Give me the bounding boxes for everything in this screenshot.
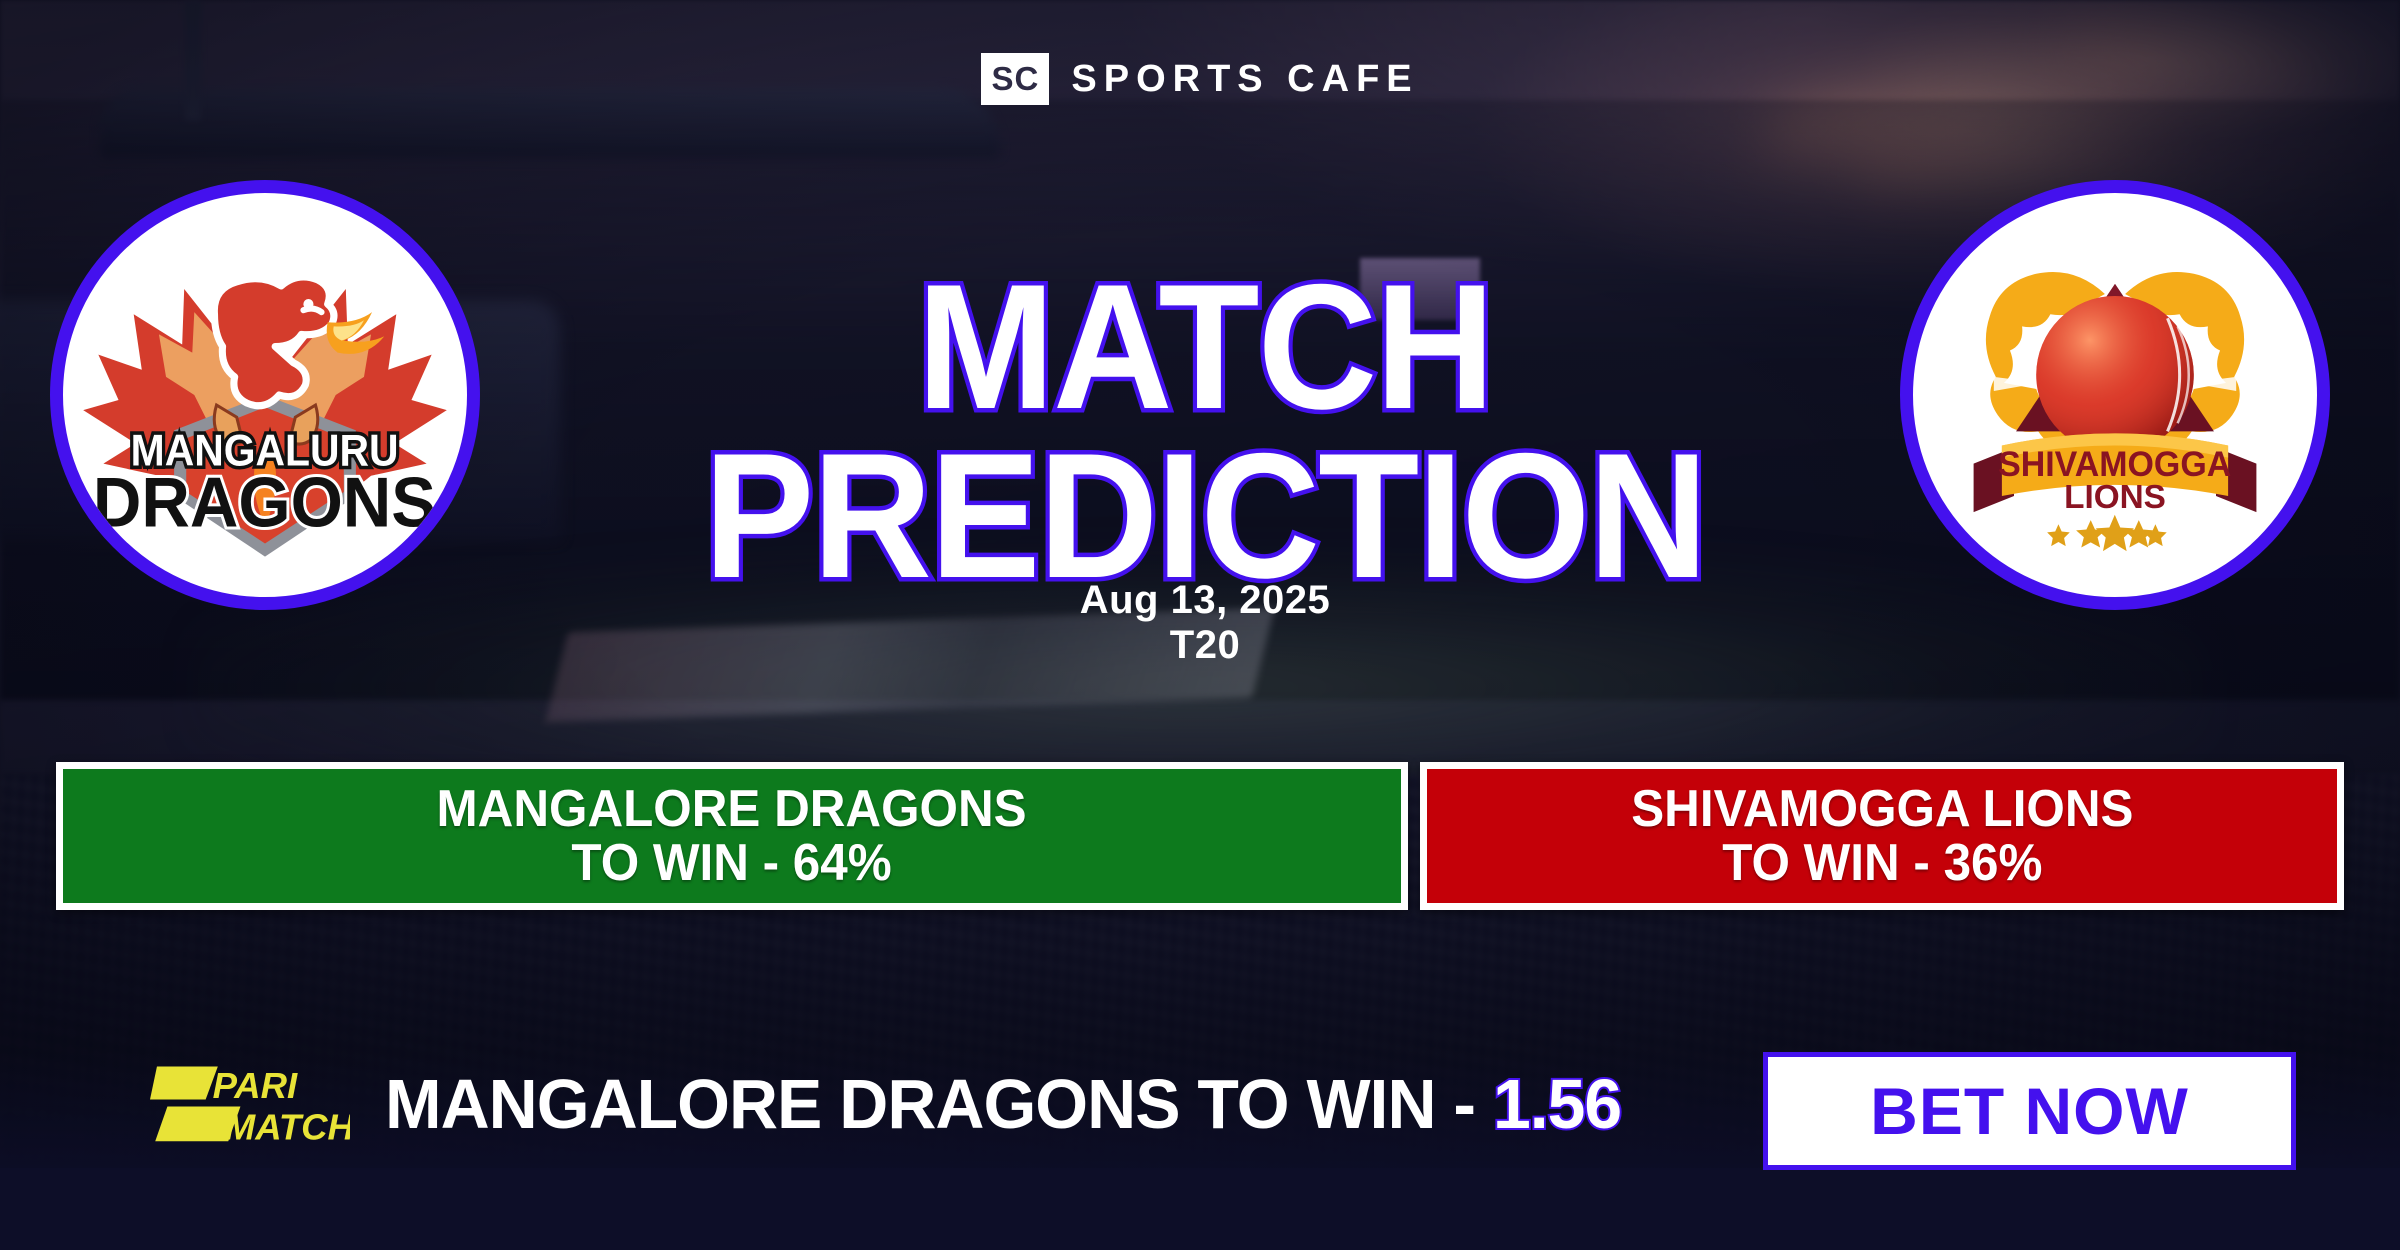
bottom-solid-band xyxy=(0,1168,2400,1250)
home-team-logo: MANGALURU DRAGONS xyxy=(50,180,480,610)
parimatch-logo-mark: PARI MATCH xyxy=(150,1057,350,1149)
sports-cafe-logo-mark: SC xyxy=(981,53,1049,105)
home-win-line1: MANGALORE DRAGONS xyxy=(437,780,1027,838)
sports-cafe-logo-text: SPORTS CAFE xyxy=(1071,58,1418,101)
parimatch-line2: MATCH xyxy=(225,1107,350,1148)
page-title: MATCH PREDICTION xyxy=(605,262,1805,600)
match-format: T20 xyxy=(560,623,1850,668)
promo-odds-value: 1.56 xyxy=(1493,1065,1621,1143)
bet-now-button[interactable]: BET NOW xyxy=(1763,1052,2296,1170)
shivamogga-lions-crest: SHIVAMOGGA LIONS xyxy=(1913,193,2317,597)
prediction-bars: MANGALORE DRAGONS TO WIN - 64% SHIVAMOGG… xyxy=(56,762,2344,910)
away-logo-line2: LIONS xyxy=(2064,479,2166,516)
home-win-bar: MANGALORE DRAGONS TO WIN - 64% xyxy=(56,762,1408,910)
promo-offer-text: MANGALORE DRAGONS TO WIN - 1.56 xyxy=(385,1069,1675,1139)
match-date: Aug 13, 2025 xyxy=(560,578,1850,623)
away-win-bar: SHIVAMOGGA LIONS TO WIN - 36% xyxy=(1420,762,2344,910)
parimatch-line1: PARI xyxy=(213,1065,298,1106)
match-prediction-graphic: SC SPORTS CAFE MANGALURU DRAG xyxy=(0,0,2400,1250)
headline-block: MATCH PREDICTION xyxy=(560,262,1850,600)
mangaluru-dragons-crest: MANGALURU DRAGONS xyxy=(63,193,467,597)
promo-offer-label: MANGALORE DRAGONS TO WIN - xyxy=(385,1065,1493,1143)
away-team-logo: SHIVAMOGGA LIONS xyxy=(1900,180,2330,610)
match-meta: Aug 13, 2025 T20 xyxy=(560,578,1850,668)
away-win-line2: TO WIN - 36% xyxy=(1722,834,2042,892)
away-win-line1: SHIVAMOGGA LIONS xyxy=(1631,780,2133,838)
home-win-line2: TO WIN - 64% xyxy=(572,834,892,892)
brand-header: SC SPORTS CAFE xyxy=(0,48,2400,110)
parimatch-logo[interactable]: PARI MATCH xyxy=(150,1057,350,1149)
home-logo-line2: DRAGONS xyxy=(93,463,436,542)
